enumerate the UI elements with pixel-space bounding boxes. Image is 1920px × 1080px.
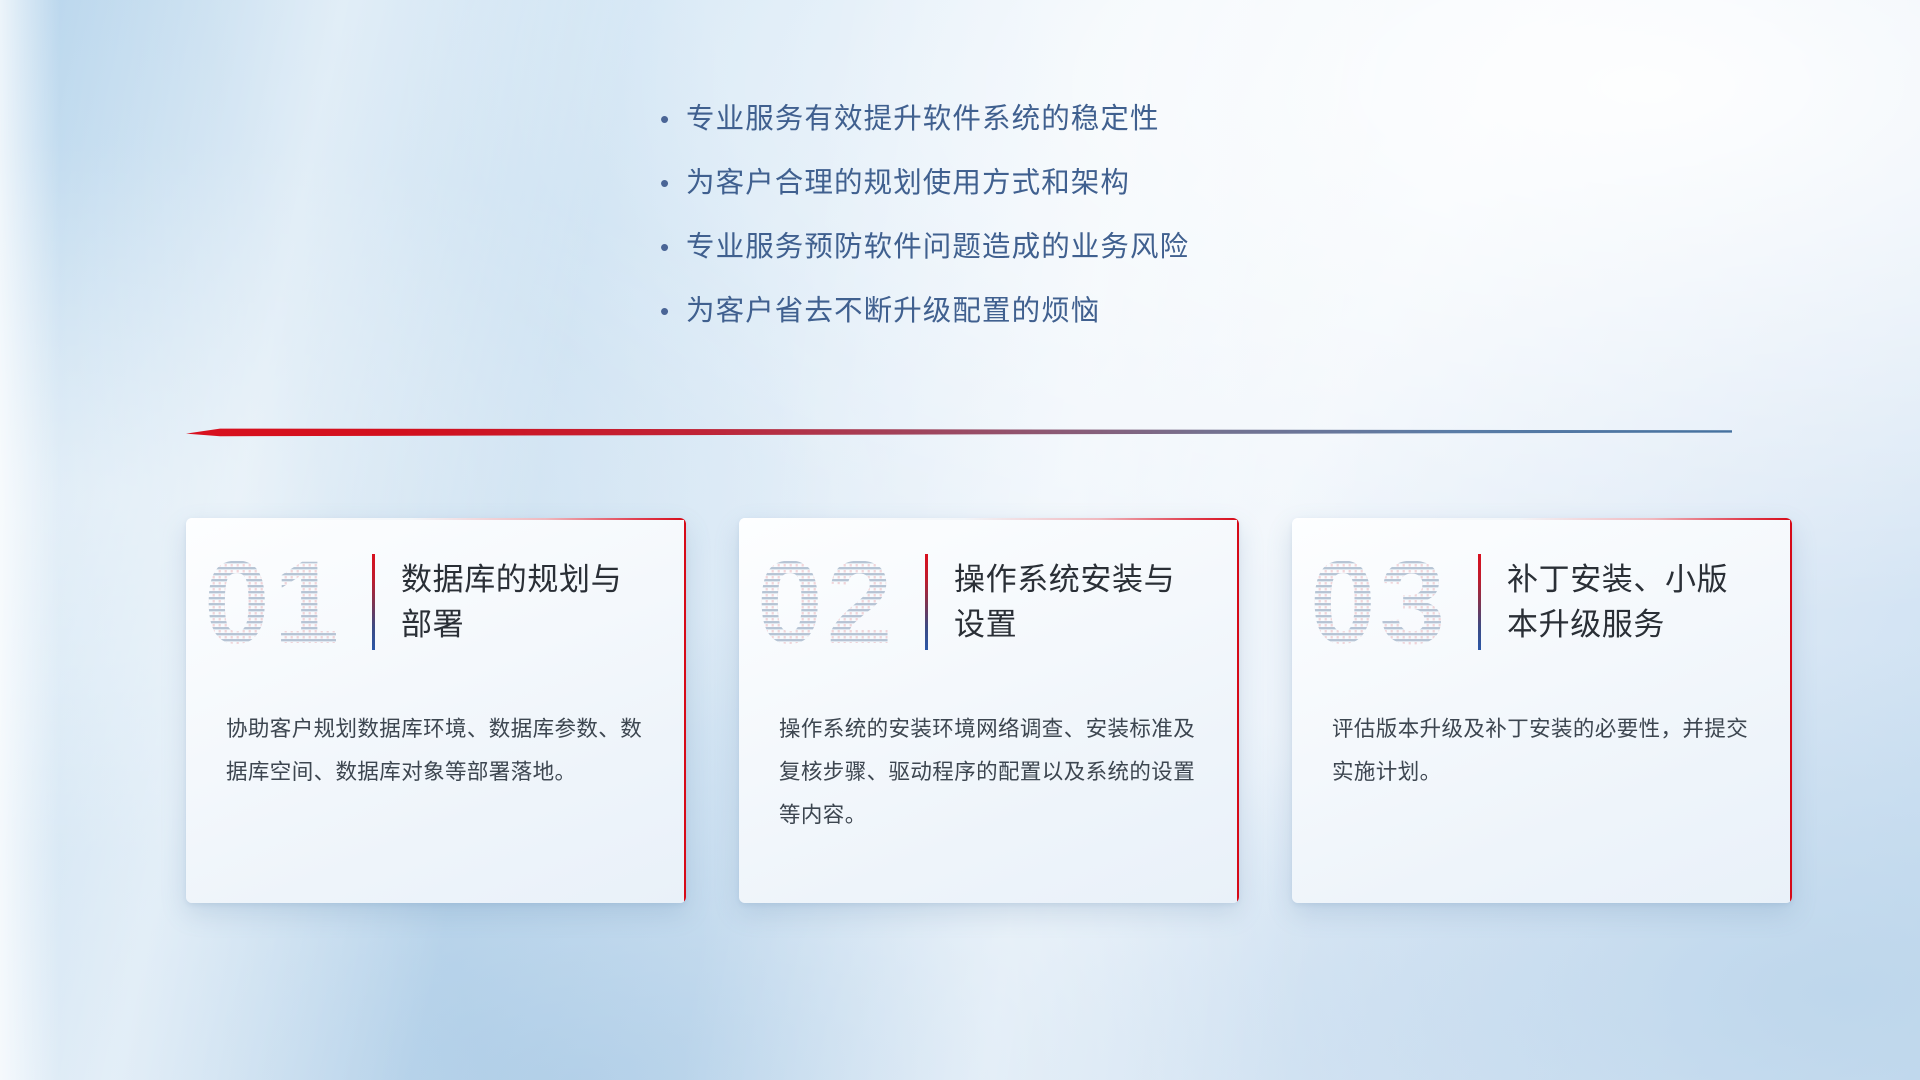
card-title-divider xyxy=(1478,554,1481,650)
watermark-number-01: 01 xyxy=(204,543,368,661)
list-item: • 专业服务预防软件问题造成的业务风险 xyxy=(660,224,1189,288)
slide-canvas: • 专业服务有效提升软件系统的稳定性 • 为客户合理的规划使用方式和架构 • 专… xyxy=(0,0,1920,1080)
service-card-01[interactable]: 01 数据库的规划与部署 协助客户规划数据库环境、数据库参数、数据库空间、数据库… xyxy=(186,518,686,903)
svg-text:01: 01 xyxy=(204,543,343,661)
card-header: 01 数据库的规划与部署 xyxy=(186,518,686,686)
list-item: • 为客户合理的规划使用方式和架构 xyxy=(660,160,1189,224)
bullet-dot-icon: • xyxy=(660,160,686,206)
watermark-number-03: 03 xyxy=(1310,543,1474,661)
bullet-label: 为客户合理的规划使用方式和架构 xyxy=(686,160,1130,206)
card-header: 03 补丁安装、小版本升级服务 xyxy=(1292,518,1792,686)
service-card-row: 01 数据库的规划与部署 协助客户规划数据库环境、数据库参数、数据库空间、数据库… xyxy=(186,518,1794,918)
card-title-divider xyxy=(925,554,928,650)
card-description: 评估版本升级及补丁安装的必要性，并提交实施计划。 xyxy=(1292,686,1792,794)
bullet-label: 专业服务有效提升软件系统的稳定性 xyxy=(686,96,1160,142)
card-title: 补丁安装、小版本升级服务 xyxy=(1507,557,1757,647)
card-title: 操作系统安装与设置 xyxy=(954,557,1204,647)
watermark-number-02: 02 xyxy=(757,543,921,661)
benefits-bullet-list: • 专业服务有效提升软件系统的稳定性 • 为客户合理的规划使用方式和架构 • 专… xyxy=(660,96,1189,352)
section-divider xyxy=(186,424,1732,442)
bullet-label: 为客户省去不断升级配置的烦恼 xyxy=(686,288,1100,334)
bullet-dot-icon: • xyxy=(660,288,686,334)
svg-text:02: 02 xyxy=(757,543,896,661)
card-description: 协助客户规划数据库环境、数据库参数、数据库空间、数据库对象等部署落地。 xyxy=(186,686,686,794)
bullet-dot-icon: • xyxy=(660,96,686,142)
card-description: 操作系统的安装环境网络调查、安装标准及复核步骤、驱动程序的配置以及系统的设置等内… xyxy=(739,686,1239,837)
card-title-divider xyxy=(372,554,375,650)
bullet-label: 专业服务预防软件问题造成的业务风险 xyxy=(686,224,1189,270)
svg-text:03: 03 xyxy=(1310,543,1449,661)
divider-line-icon xyxy=(186,424,1732,442)
card-title: 数据库的规划与部署 xyxy=(401,557,651,647)
bullet-dot-icon: • xyxy=(660,224,686,270)
list-item: • 专业服务有效提升软件系统的稳定性 xyxy=(660,96,1189,160)
service-card-03[interactable]: 03 补丁安装、小版本升级服务 评估版本升级及补丁安装的必要性，并提交实施计划。 xyxy=(1292,518,1792,903)
service-card-02[interactable]: 02 操作系统安装与设置 操作系统的安装环境网络调查、安装标准及复核步骤、驱动程… xyxy=(739,518,1239,903)
list-item: • 为客户省去不断升级配置的烦恼 xyxy=(660,288,1189,352)
card-header: 02 操作系统安装与设置 xyxy=(739,518,1239,686)
